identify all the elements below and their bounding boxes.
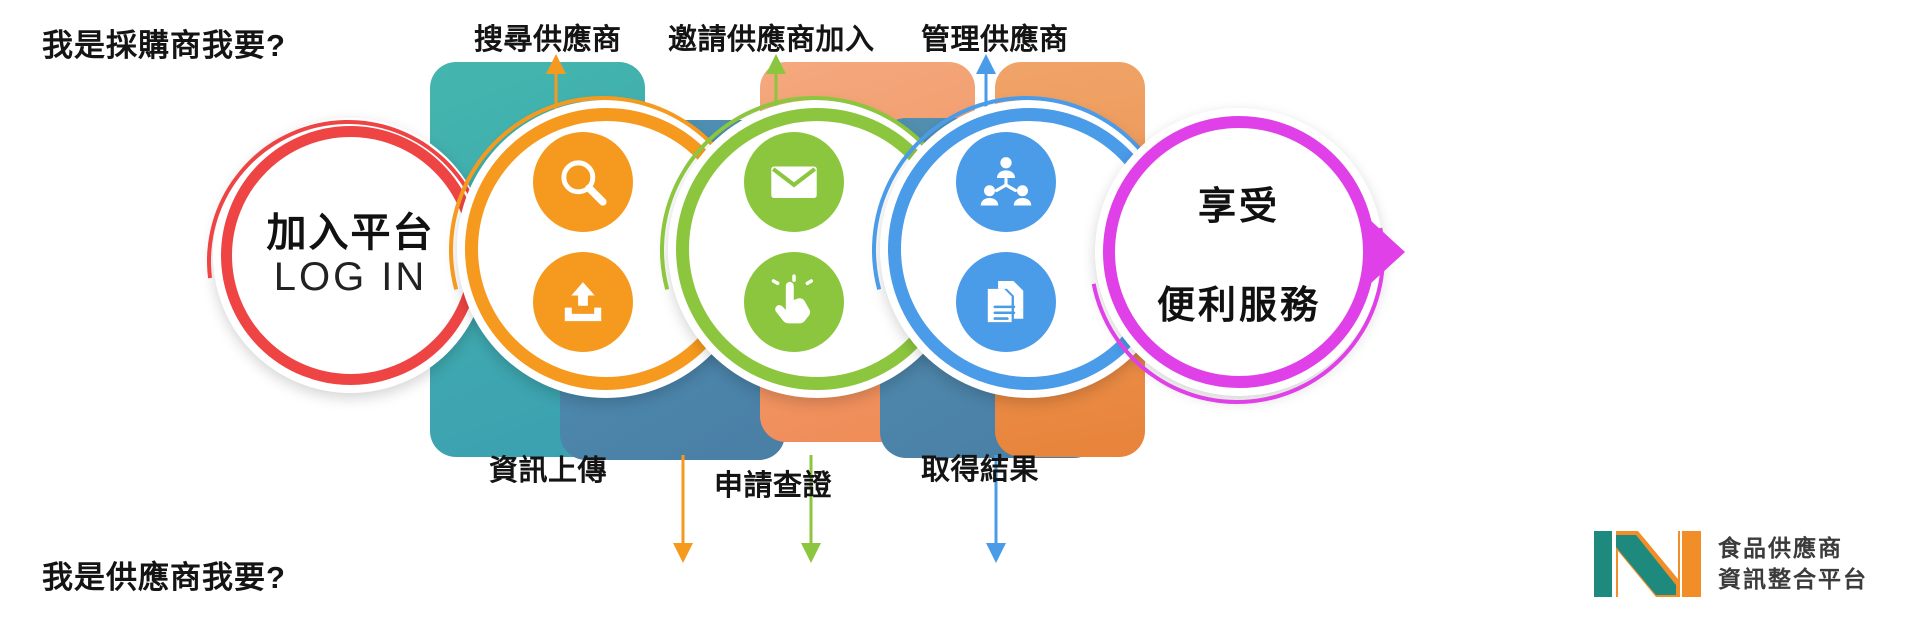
connector-bottom-upload bbox=[672, 455, 694, 565]
infographic-canvas: 我是採購商我要? 我是供應商我要? 搜尋供應商 邀請供應商加入 管理供應商 資訊… bbox=[0, 0, 1920, 627]
caption-invite-supplier: 邀請供應商加入 bbox=[668, 16, 875, 58]
label-buyer-question: 我是採購商我要? bbox=[42, 20, 286, 65]
search-icon bbox=[555, 154, 611, 210]
node-enjoy-content: 享受 便利服務 bbox=[1095, 108, 1383, 396]
node-enjoy[interactable]: 享受 便利服務 bbox=[1095, 108, 1383, 396]
caption-search-supplier: 搜尋供應商 bbox=[474, 16, 622, 58]
caption-manage-supplier: 管理供應商 bbox=[921, 16, 1069, 58]
envelope-icon-disc[interactable] bbox=[744, 132, 844, 232]
node-login[interactable]: 加入平台 LOG IN bbox=[213, 118, 488, 393]
label-supplier-question: 我是供應商我要? bbox=[42, 552, 286, 597]
search-icon-disc[interactable] bbox=[533, 132, 633, 232]
caption-upload-info: 資訊上傳 bbox=[489, 447, 607, 489]
upload-icon bbox=[555, 274, 611, 330]
document-icon bbox=[978, 274, 1034, 330]
people-network-icon bbox=[976, 152, 1036, 212]
node-login-title: 加入平台 bbox=[267, 212, 435, 255]
envelope-icon bbox=[765, 153, 823, 211]
node-login-subtitle: LOG IN bbox=[274, 255, 428, 300]
touch-hand-icon bbox=[766, 274, 822, 330]
people-network-icon-disc[interactable] bbox=[956, 132, 1056, 232]
touch-hand-icon-disc[interactable] bbox=[744, 252, 844, 352]
upload-icon-disc[interactable] bbox=[533, 252, 633, 352]
node-enjoy-subtitle: 便利服務 bbox=[1157, 274, 1321, 329]
caption-get-result: 取得結果 bbox=[921, 446, 1039, 488]
logo-line-1: 食品供應商 bbox=[1718, 535, 1868, 562]
logo-wordmark: 食品供應商 資訊整合平台 bbox=[1718, 535, 1868, 592]
logo-line-2: 資訊整合平台 bbox=[1718, 566, 1868, 593]
node-enjoy-title: 享受 bbox=[1198, 175, 1280, 230]
caption-apply-verify: 申請查證 bbox=[714, 462, 832, 504]
brand-logo: 食品供應商 資訊整合平台 bbox=[1592, 527, 1868, 601]
document-icon-disc[interactable] bbox=[956, 252, 1056, 352]
node-login-content: 加入平台 LOG IN bbox=[213, 118, 488, 393]
isi-logo-mark bbox=[1592, 527, 1704, 601]
